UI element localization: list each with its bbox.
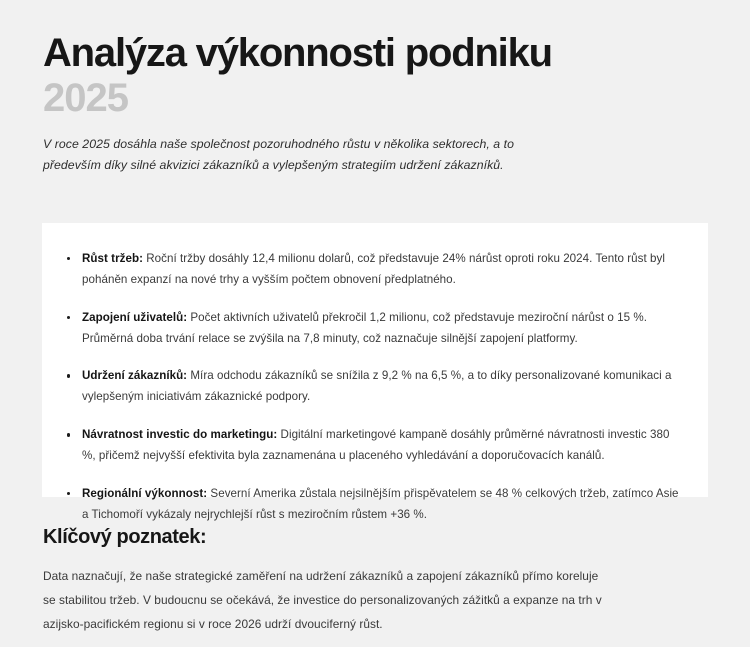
page-title: Analýza výkonnosti podniku 2025 <box>43 31 583 121</box>
highlights-card: Růst tržeb: Roční tržby dosáhly 12,4 mil… <box>42 223 708 497</box>
list-item-lead: Regionální výkonnost: <box>82 487 207 500</box>
list-item: Udržení zákazníků: Míra odchodu zákazník… <box>60 366 680 408</box>
report-page: Analýza výkonnosti podniku 2025 V roce 2… <box>0 0 750 647</box>
page-header: Analýza výkonnosti podniku 2025 V roce 2… <box>0 0 750 176</box>
page-title-year: 2025 <box>43 76 128 120</box>
key-takeaway-title: Klíčový poznatek: <box>43 525 709 549</box>
intro-paragraph: V roce 2025 dosáhla naše společnost pozo… <box>43 134 525 176</box>
highlights-list: Růst tržeb: Roční tržby dosáhly 12,4 mil… <box>60 249 680 526</box>
list-item-lead: Zapojení uživatelů: <box>82 311 187 324</box>
list-item-lead: Růst tržeb: <box>82 252 143 265</box>
page-title-main: Analýza výkonnosti podniku <box>43 31 552 75</box>
key-takeaway-body: Data naznačují, že naše strategické zamě… <box>43 565 603 636</box>
list-item: Růst tržeb: Roční tržby dosáhly 12,4 mil… <box>60 249 680 291</box>
list-item-text: Roční tržby dosáhly 12,4 milionu dolarů,… <box>82 252 665 286</box>
list-item: Regionální výkonnost: Severní Amerika zů… <box>60 484 680 526</box>
key-takeaway-section: Klíčový poznatek: Data naznačují, že naš… <box>43 525 709 636</box>
list-item-lead: Udržení zákazníků: <box>82 369 187 382</box>
list-item: Zapojení uživatelů: Počet aktivních uživ… <box>60 308 680 350</box>
list-item-lead: Návratnost investic do marketingu: <box>82 428 277 441</box>
list-item: Návratnost investic do marketingu: Digit… <box>60 425 680 467</box>
